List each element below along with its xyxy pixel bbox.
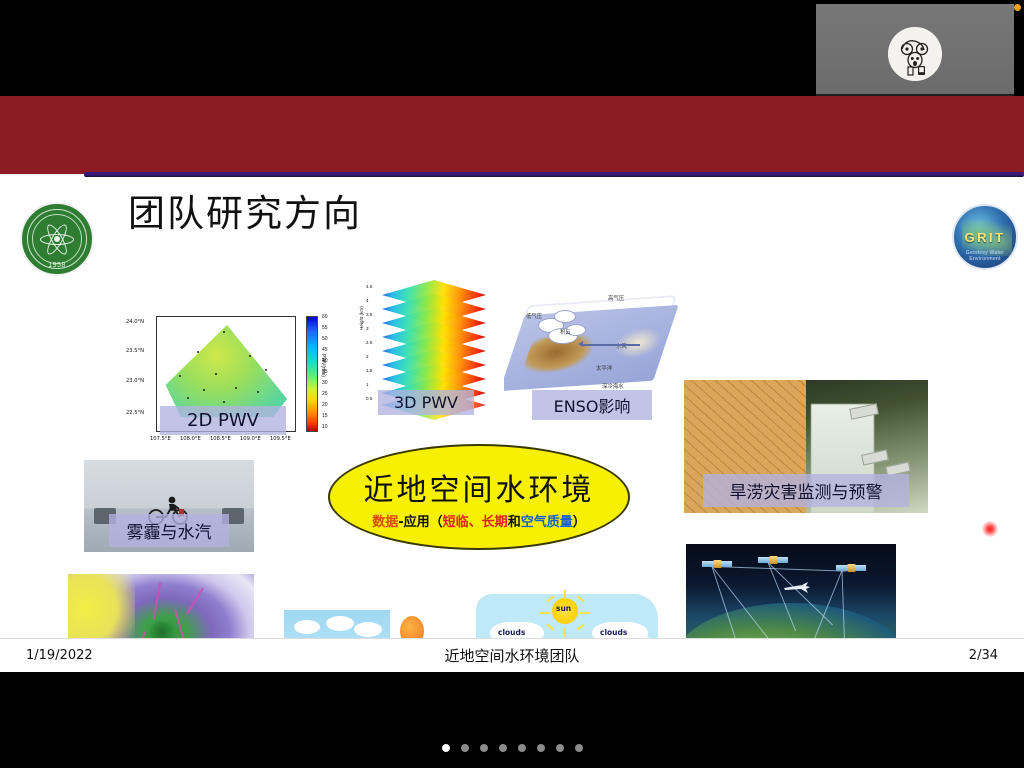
- screen: 赵庆志（QingzhiZhao… 1958 团队研究方向 GRIT Geodes…: [0, 0, 1024, 768]
- header-divider: [84, 172, 1024, 177]
- height-tick: 4: [366, 298, 369, 303]
- height-tick: 2: [366, 354, 369, 359]
- pagination-dot[interactable]: [518, 744, 526, 752]
- water-cycle-label-clouds-right: clouds: [600, 628, 627, 637]
- colorbar-title: PWV(mm): [320, 354, 326, 377]
- satellite-icon: [702, 558, 732, 570]
- water-cycle-label-sun: sun: [556, 604, 571, 613]
- panel-3d-pwv[interactable]: 4.5 4 3.5 3 2.5 2 1.5 1 0.5 Height (km) …: [358, 278, 494, 420]
- panel-haze[interactable]: 雾霾与水汽: [84, 460, 254, 552]
- map-x-tick: 108.5°E: [210, 436, 231, 442]
- pagination-dot[interactable]: [480, 744, 488, 752]
- laser-pointer-dot: [982, 521, 998, 537]
- height-tick: 1: [366, 382, 369, 387]
- slide-footer: 1/19/2022 近地空间水环境团队 2/34: [0, 638, 1024, 672]
- airplane-icon: [782, 580, 812, 594]
- seal-year: 1958: [22, 262, 92, 269]
- footer-team-name: 近地空间水环境团队: [444, 645, 579, 666]
- map-y-tick: 22.5°N: [126, 410, 144, 416]
- slide-canvas: 1958 团队研究方向 GRIT Geodesy Water Environme…: [0, 96, 1024, 672]
- water-cycle-label-clouds-left: clouds: [498, 628, 525, 637]
- pagination-dot[interactable]: [442, 744, 450, 752]
- enso-label: 低气压: [526, 312, 542, 320]
- panel-caption-drought-flood: 旱涝灾害监测与预警: [703, 474, 909, 507]
- panel-drought-flood[interactable]: 旱涝灾害监测与预警: [684, 380, 928, 513]
- central-topic-title: 近地空间水环境: [364, 465, 595, 509]
- colorbar-tick: 25: [322, 391, 328, 397]
- xian-university-seal-icon: 1958: [20, 202, 94, 276]
- colorbar-tick: 15: [322, 413, 328, 419]
- height-tick: 0.5: [366, 396, 372, 401]
- recording-dot: [1014, 4, 1021, 11]
- colorbar-tick: 10: [322, 424, 328, 430]
- avatar: [888, 27, 942, 81]
- satellite-icon: [836, 562, 866, 574]
- panel-caption-enso: ENSO影响: [532, 390, 652, 420]
- panel-enso[interactable]: 低气压 高气压 积云 东风 太平洋 深冷海水 ENSO影响: [504, 284, 680, 426]
- enso-label: 高气压: [608, 294, 624, 302]
- central-topic-subtitle: 数据-应用（短临、长期和空气质量）: [372, 511, 585, 530]
- map-x-tick: 109.5°E: [270, 436, 291, 442]
- pagination-dot[interactable]: [461, 744, 469, 752]
- height-axis-title: Height (km): [359, 306, 364, 330]
- grit-logo-subtext: Geodesy Water Environment: [954, 250, 1016, 262]
- map-y-tick: 23.0°N: [126, 378, 144, 384]
- footer-date: 1/19/2022: [26, 648, 93, 663]
- enso-label: 积云: [560, 328, 571, 336]
- map-x-tick: 109.0°E: [240, 436, 261, 442]
- page-title: 团队研究方向: [128, 183, 362, 237]
- subtitle-part-and: 和: [508, 515, 521, 530]
- slide-header-band: [0, 96, 1024, 174]
- panel-caption-haze: 雾霾与水汽: [109, 514, 229, 547]
- height-tick: 1.5: [366, 368, 372, 373]
- pagination-dot[interactable]: [537, 744, 545, 752]
- pagination-dot[interactable]: [556, 744, 564, 752]
- map-y-tick: 24.0°N: [126, 319, 144, 325]
- pagination-dots[interactable]: [0, 744, 1024, 752]
- colorbar-tick: 30: [322, 380, 328, 386]
- satellite-icon: [758, 554, 788, 566]
- map-y-tick: 23.5°N: [126, 348, 144, 354]
- subtitle-part-term: 短临、长期: [443, 515, 508, 530]
- central-topic-ellipse[interactable]: 近地空间水环境 数据-应用（短临、长期和空气质量）: [328, 444, 630, 550]
- height-tick: 3: [366, 326, 369, 331]
- grit-logo-text: GRIT: [964, 230, 1005, 245]
- footer-page-number: 2/34: [969, 648, 998, 663]
- subtitle-part-data: 数据: [372, 515, 398, 530]
- height-tick: 3.5: [366, 312, 372, 317]
- pagination-dot[interactable]: [575, 744, 583, 752]
- colorbar-tick: 60: [322, 314, 328, 320]
- subtitle-part-close: ）: [573, 515, 586, 530]
- colorbar-tick: 50: [322, 336, 328, 342]
- grit-logo-icon: GRIT Geodesy Water Environment: [952, 204, 1018, 270]
- map-x-tick: 107.5°E: [150, 436, 171, 442]
- height-tick: 4.5: [366, 284, 372, 289]
- subtitle-part-airqual: 空气质量: [521, 515, 573, 530]
- pwv-colorbar: [306, 316, 318, 432]
- pagination-dot[interactable]: [499, 744, 507, 752]
- colorbar-tick: 55: [322, 325, 328, 331]
- panel-caption-2d-pwv: 2D PWV: [160, 406, 286, 435]
- map-x-tick: 108.0°E: [180, 436, 201, 442]
- subtitle-part-app: -应用（: [398, 515, 442, 530]
- colorbar-tick: 20: [322, 402, 328, 408]
- height-tick: 2.5: [366, 340, 372, 345]
- panel-caption-3d-pwv: 3D PWV: [378, 390, 474, 415]
- panel-2d-pwv[interactable]: 24.0°N 23.5°N 23.0°N 22.5°N 107.5°E 108.…: [112, 310, 334, 456]
- enso-label: 深冷海水: [602, 382, 624, 390]
- enso-label: 太平洋: [596, 364, 612, 372]
- colorbar-tick: 45: [322, 347, 328, 353]
